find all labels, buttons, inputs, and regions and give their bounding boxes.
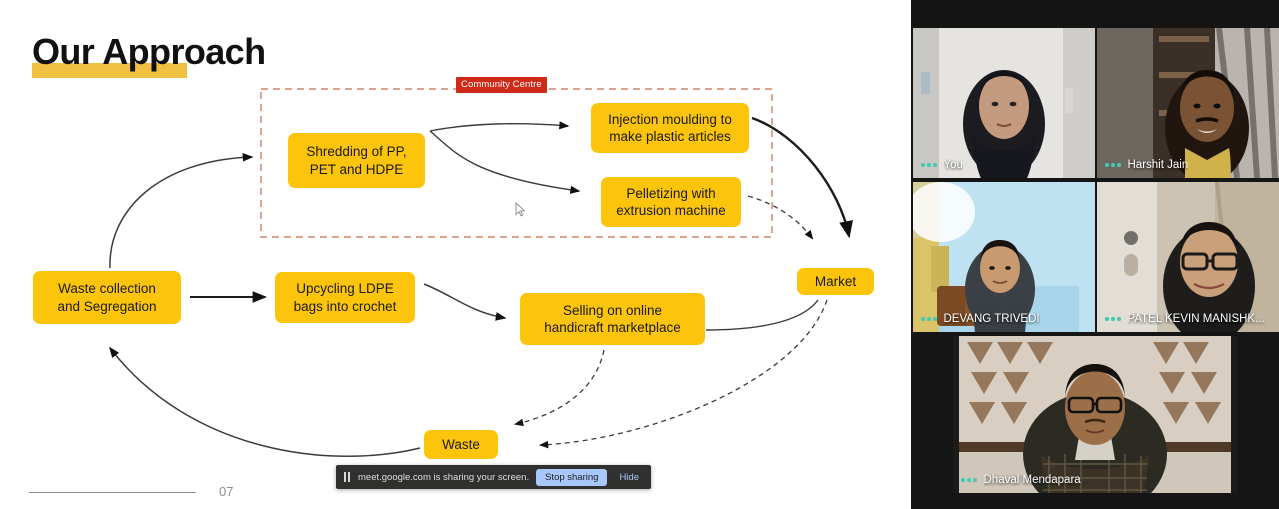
participant-name: PATEL KEVIN MANISHK... xyxy=(1128,313,1265,325)
node-waste-collection-line1: Waste collection xyxy=(57,280,156,297)
more-options-icon[interactable] xyxy=(921,163,937,167)
participant-tile-dhaval-mendapara[interactable]: Dhaval Mendapara xyxy=(953,336,1237,493)
more-options-icon[interactable] xyxy=(921,317,937,321)
participant-label: Dhaval Mendapara xyxy=(961,474,1081,486)
node-pelletizing-line1: Pelletizing with xyxy=(616,185,726,202)
node-selling-line2: handicraft marketplace xyxy=(544,319,681,336)
presentation-slide: Our Approach xyxy=(0,0,911,509)
participant-name: You xyxy=(944,159,963,171)
mouse-cursor-icon xyxy=(515,202,526,217)
hide-button[interactable]: Hide xyxy=(614,469,644,486)
participant-name: Dhaval Mendapara xyxy=(984,474,1081,486)
node-shredding-line1: Shredding of PP, xyxy=(306,143,406,160)
participant-label: PATEL KEVIN MANISHK... xyxy=(1105,313,1265,325)
participant-label: You xyxy=(921,159,963,171)
screen-share-window: Our Approach xyxy=(0,0,1279,509)
node-upcycling-line2: bags into crochet xyxy=(294,298,397,315)
node-upcycling-line1: Upcycling LDPE xyxy=(294,280,397,297)
page-number: 07 xyxy=(219,484,233,499)
node-waste: Waste xyxy=(424,430,498,459)
node-pelletizing: Pelletizing with extrusion machine xyxy=(601,177,741,227)
participant-label: Harshit Jain xyxy=(1105,159,1188,171)
participant-tile-devang-trivedi[interactable]: DEVANG TRIVEDI xyxy=(913,182,1095,332)
participant-video-you xyxy=(913,28,1095,178)
node-shredding: Shredding of PP, PET and HDPE xyxy=(288,133,425,188)
stop-sharing-button[interactable]: Stop sharing xyxy=(536,469,607,486)
page-title: Our Approach xyxy=(32,31,265,73)
footer-divider xyxy=(29,492,196,493)
panel-top-bar xyxy=(911,0,1279,25)
more-options-icon[interactable] xyxy=(961,478,977,482)
participant-tile-harshit-jain[interactable]: Harshit Jain xyxy=(1097,28,1279,178)
community-centre-label: Community Centre xyxy=(456,77,547,93)
participant-label: DEVANG TRIVEDI xyxy=(921,313,1040,325)
node-injection-line2: make plastic articles xyxy=(608,128,732,145)
node-shredding-line2: PET and HDPE xyxy=(306,161,406,178)
participant-tile-patel-kevin[interactable]: PATEL KEVIN MANISHK... xyxy=(1097,182,1279,332)
node-pelletizing-line2: extrusion machine xyxy=(616,202,726,219)
node-injection-line1: Injection moulding to xyxy=(608,111,732,128)
node-injection-moulding: Injection moulding to make plastic artic… xyxy=(591,103,749,153)
participant-name: DEVANG TRIVEDI xyxy=(944,313,1040,325)
pause-icon[interactable] xyxy=(343,472,351,482)
node-waste-collection-line2: and Segregation xyxy=(57,298,156,315)
participant-video-dhaval-mendapara xyxy=(953,336,1237,493)
screen-share-bar: meet.google.com is sharing your screen. … xyxy=(336,465,651,489)
node-waste-collection: Waste collection and Segregation xyxy=(33,271,181,324)
more-options-icon[interactable] xyxy=(1105,163,1121,167)
node-upcycling-ldpe: Upcycling LDPE bags into crochet xyxy=(275,272,415,323)
node-selling-online: Selling on online handicraft marketplace xyxy=(520,293,705,345)
more-options-icon[interactable] xyxy=(1105,317,1121,321)
node-selling-line1: Selling on online xyxy=(544,302,681,319)
participant-name: Harshit Jain xyxy=(1128,159,1189,171)
participant-tile-you[interactable]: You xyxy=(913,28,1095,178)
share-status-text: meet.google.com is sharing your screen. xyxy=(358,472,529,483)
participant-video-patel-kevin xyxy=(1097,182,1279,332)
participant-video-devang-trivedi xyxy=(913,182,1095,332)
participant-video-harshit-jain xyxy=(1097,28,1279,178)
node-market: Market xyxy=(797,268,874,295)
meet-participants-panel: You xyxy=(911,0,1279,509)
